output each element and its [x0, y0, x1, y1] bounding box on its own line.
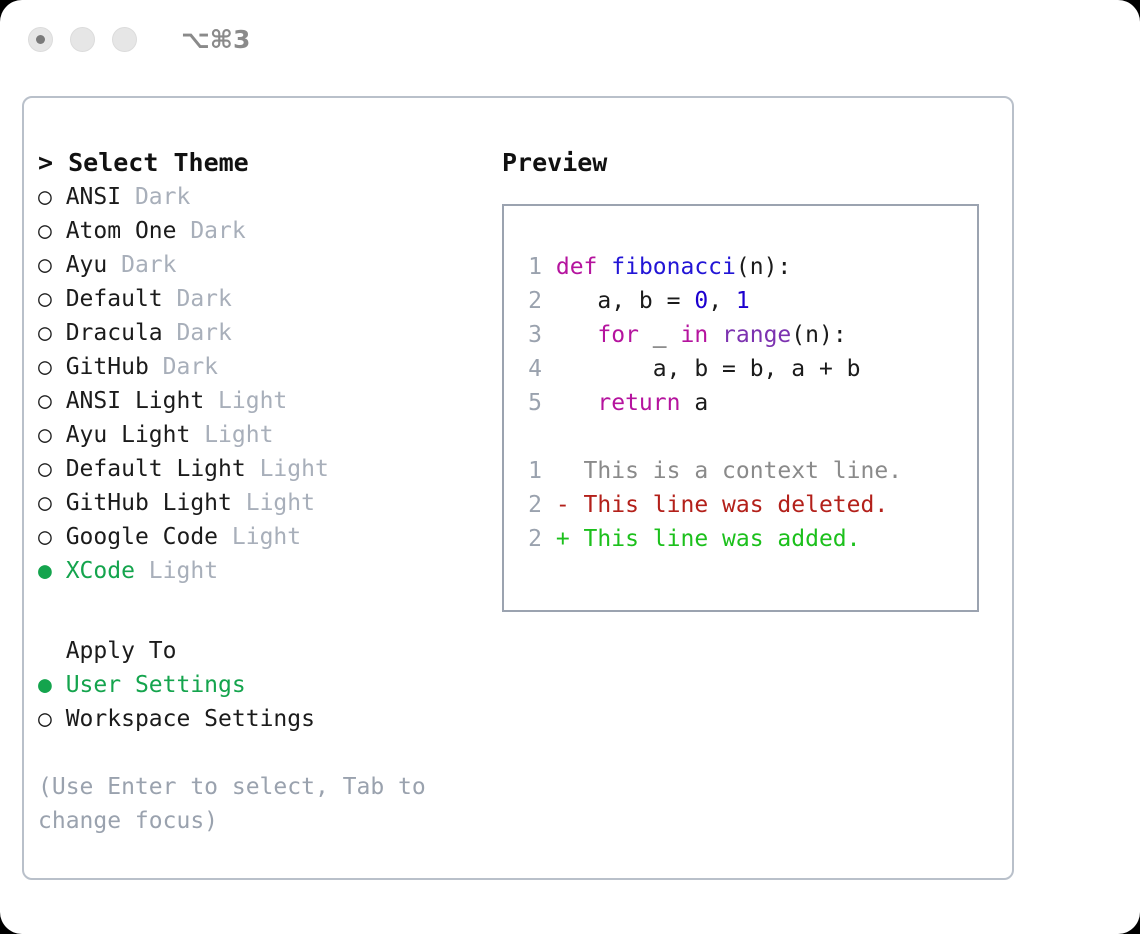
radio-unselected-icon: ○	[38, 252, 52, 278]
theme-name-label: Google Code	[52, 524, 218, 550]
code-preview-box: 1 def fibonacci(n):2 a, b = 0, 13 for _ …	[502, 204, 979, 612]
theme-list-item[interactable]: ○ Google Code Light	[38, 520, 488, 554]
line-number: 2	[520, 522, 542, 556]
code-token	[542, 322, 597, 348]
apply-to-label: Workspace Settings	[52, 706, 315, 732]
apply-to-list: ● User Settings○ Workspace Settings	[38, 668, 488, 736]
theme-name-label: ANSI	[52, 184, 121, 210]
theme-kind-label: Dark	[149, 354, 218, 380]
main-panel: > Select Theme ○ ANSI Dark○ Atom One Dar…	[22, 96, 1014, 880]
radio-unselected-icon: ○	[38, 456, 52, 482]
theme-kind-label: Dark	[121, 184, 190, 210]
radio-unselected-icon: ○	[38, 354, 52, 380]
radio-unselected-icon: ○	[38, 422, 52, 448]
theme-name-label: ANSI Light	[52, 388, 204, 414]
code-diff-spacer	[504, 420, 977, 454]
window-dot-second-icon[interactable]	[70, 27, 95, 52]
theme-list-item[interactable]: ● XCode Light	[38, 554, 488, 588]
code-token: (n):	[736, 254, 791, 280]
theme-name-label: Default	[52, 286, 163, 312]
diff-line: 1 This is a context line.	[504, 454, 977, 488]
theme-list-item[interactable]: ○ GitHub Dark	[38, 350, 488, 384]
diff-line: 2 - This line was deleted.	[504, 488, 977, 522]
keyboard-hint-text: (Use Enter to select, Tab to change focu…	[38, 770, 448, 838]
code-token: ,	[708, 288, 736, 314]
select-theme-header: > Select Theme	[38, 146, 488, 180]
theme-kind-label: Dark	[107, 252, 176, 278]
keyboard-shortcut-label: ⌥⌘3	[181, 25, 250, 54]
theme-list-item[interactable]: ○ ANSI Light Light	[38, 384, 488, 418]
theme-list-item[interactable]: ○ GitHub Light Light	[38, 486, 488, 520]
theme-name-label: Dracula	[52, 320, 163, 346]
radio-unselected-icon: ○	[38, 388, 52, 414]
radio-unselected-icon: ○	[38, 320, 52, 346]
theme-name-label: GitHub	[52, 354, 149, 380]
code-token: (n):	[791, 322, 846, 348]
line-number: 5	[520, 386, 542, 420]
diff-text: - This line was deleted.	[542, 492, 888, 518]
theme-kind-label: Light	[135, 558, 218, 584]
theme-kind-label: Light	[218, 524, 301, 550]
diff-line: 2 + This line was added.	[504, 522, 977, 556]
line-number: 1	[520, 250, 542, 284]
code-block: 1 def fibonacci(n):2 a, b = 0, 13 for _ …	[504, 250, 977, 420]
theme-list-item[interactable]: ○ Atom One Dark	[38, 214, 488, 248]
code-line: 5 return a	[504, 386, 977, 420]
code-token: def	[542, 254, 611, 280]
code-token: a, b =	[542, 288, 694, 314]
theme-kind-label: Light	[246, 456, 329, 482]
code-token: for	[597, 322, 639, 348]
theme-kind-label: Light	[232, 490, 315, 516]
code-line: 1 def fibonacci(n):	[504, 250, 977, 284]
radio-unselected-icon: ○	[38, 286, 52, 312]
radio-unselected-icon: ○	[38, 184, 52, 210]
theme-name-label: XCode	[52, 558, 135, 584]
theme-selector-column: > Select Theme ○ ANSI Dark○ Atom One Dar…	[38, 146, 488, 838]
radio-unselected-icon: ○	[38, 706, 52, 732]
radio-unselected-icon: ○	[38, 218, 52, 244]
theme-list-item[interactable]: ○ ANSI Dark	[38, 180, 488, 214]
section-spacer	[38, 588, 488, 634]
theme-name-label: Ayu	[52, 252, 107, 278]
diff-text: This is a context line.	[542, 458, 902, 484]
theme-name-label: GitHub Light	[52, 490, 232, 516]
line-number: 4	[520, 352, 542, 386]
theme-list-item[interactable]: ○ Dracula Dark	[38, 316, 488, 350]
code-token: 0	[694, 288, 708, 314]
code-token: a, b = b, a + b	[542, 356, 861, 382]
code-line: 3 for _ in range(n):	[504, 318, 977, 352]
code-token: a	[680, 390, 708, 416]
diff-block: 1 This is a context line.2 - This line w…	[504, 454, 977, 556]
theme-list-item[interactable]: ○ Default Light Light	[38, 452, 488, 486]
theme-kind-label: Dark	[163, 320, 232, 346]
theme-list-item[interactable]: ○ Default Dark	[38, 282, 488, 316]
code-token: _	[639, 322, 681, 348]
window-controls	[28, 27, 137, 52]
theme-name-label: Ayu Light	[52, 422, 190, 448]
theme-name-label: Atom One	[52, 218, 177, 244]
code-token	[708, 322, 722, 348]
radio-selected-icon: ●	[38, 558, 52, 584]
theme-kind-label: Dark	[176, 218, 245, 244]
line-number: 2	[520, 488, 542, 522]
code-line: 4 a, b = b, a + b	[504, 352, 977, 386]
code-token: 1	[736, 288, 750, 314]
apply-to-option[interactable]: ● User Settings	[38, 668, 488, 702]
theme-list-item[interactable]: ○ Ayu Dark	[38, 248, 488, 282]
line-number: 1	[520, 454, 542, 488]
code-token: in	[680, 322, 708, 348]
theme-kind-label: Light	[190, 422, 273, 448]
app-window: ⌥⌘3 > Select Theme ○ ANSI Dark○ Atom One…	[0, 0, 1140, 934]
code-token: return	[597, 390, 680, 416]
window-dot-center-icon	[36, 35, 45, 44]
theme-kind-label: Dark	[163, 286, 232, 312]
code-line: 2 a, b = 0, 1	[504, 284, 977, 318]
window-dot-active-icon[interactable]	[28, 27, 53, 52]
theme-list-item[interactable]: ○ Ayu Light Light	[38, 418, 488, 452]
theme-list: ○ ANSI Dark○ Atom One Dark○ Ayu Dark○ De…	[38, 180, 488, 588]
apply-to-option[interactable]: ○ Workspace Settings	[38, 702, 488, 736]
radio-unselected-icon: ○	[38, 490, 52, 516]
preview-column: Preview 1 def fibonacci(n):2 a, b = 0, 1…	[502, 146, 1002, 612]
preview-title: Preview	[502, 146, 1002, 180]
diff-text: + This line was added.	[542, 526, 861, 552]
code-token: range	[722, 322, 791, 348]
title-bar: ⌥⌘3	[0, 0, 1140, 78]
radio-unselected-icon: ○	[38, 524, 52, 550]
code-token	[542, 390, 597, 416]
radio-selected-icon: ●	[38, 672, 52, 698]
theme-name-label: Default Light	[52, 456, 246, 482]
theme-kind-label: Light	[204, 388, 287, 414]
apply-to-label: User Settings	[52, 672, 246, 698]
line-number: 2	[520, 284, 542, 318]
code-token: fibonacci	[611, 254, 736, 280]
apply-to-header: Apply To	[38, 634, 488, 668]
line-number: 3	[520, 318, 542, 352]
window-dot-third-icon[interactable]	[112, 27, 137, 52]
